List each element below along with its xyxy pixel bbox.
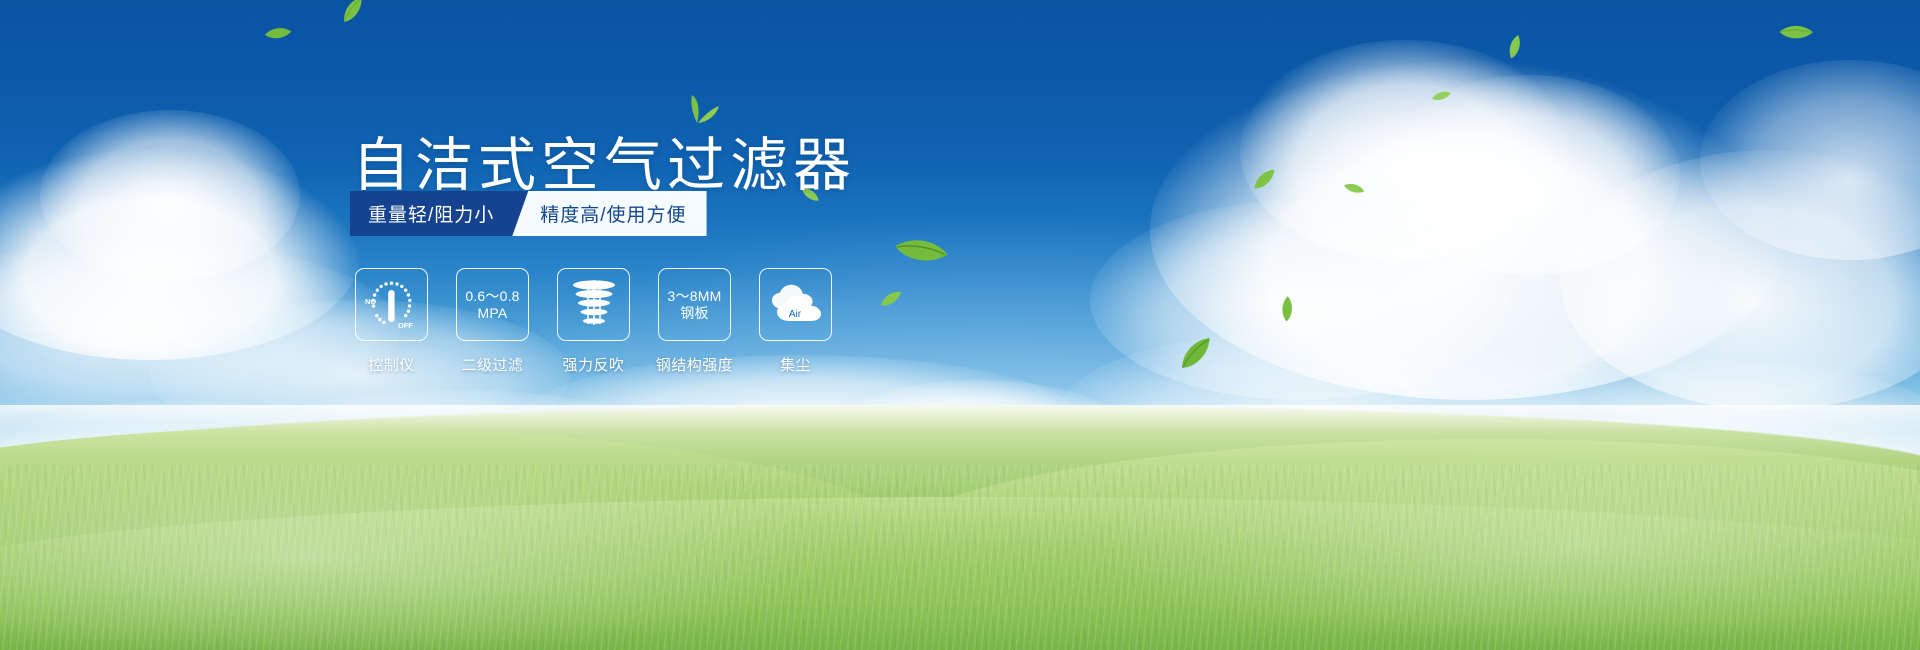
air-label: Air xyxy=(788,309,801,320)
feature-card: 0.6～0.8MPA xyxy=(456,268,529,341)
pressure-text-icon: 0.6～0.8MPA xyxy=(465,288,519,322)
tagline-badges: 重量轻/阻力小 精度高/使用方便 xyxy=(350,191,707,236)
control-dial-icon: NO OFF xyxy=(362,276,422,334)
feature-item-two-stage-filter[interactable]: 0.6～0.8MPA 二级过滤 xyxy=(456,268,529,375)
feature-label: 强力反吹 xyxy=(562,354,624,375)
feature-label: 集尘 xyxy=(780,354,811,375)
title-leaf-icon xyxy=(675,90,721,129)
feature-label: 控制仪 xyxy=(368,354,415,375)
air-cloud-icon: Air xyxy=(767,281,825,329)
steel-plate-text-icon: 3～8MM钢板 xyxy=(668,288,722,322)
hero-banner: 自洁式空气过滤器 重量轻/阻力小 精度高/使用方便 xyxy=(0,0,1920,650)
feature-label: 二级过滤 xyxy=(461,354,523,375)
feature-item-dust-collection[interactable]: Air 集尘 xyxy=(759,268,832,375)
feature-item-backblow[interactable]: 强力反吹 xyxy=(557,268,630,375)
feature-card xyxy=(557,268,630,341)
banner-content: 自洁式空气过滤器 重量轻/阻力小 精度高/使用方便 xyxy=(0,0,1920,650)
feature-item-control-unit[interactable]: NO OFF 控制仪 xyxy=(355,268,428,375)
feature-list: NO OFF 控制仪 0.6～0.8MPA 二级过滤 xyxy=(355,268,832,375)
badge-precision-ease[interactable]: 精度高/使用方便 xyxy=(512,191,706,236)
badge-weight-resistance[interactable]: 重量轻/阻力小 xyxy=(350,191,528,236)
dial-label-off: OFF xyxy=(398,321,413,330)
badge-label: 重量轻/阻力小 xyxy=(368,200,494,227)
feature-card: Air xyxy=(759,268,832,341)
feature-card: 3～8MM钢板 xyxy=(658,268,731,341)
feature-item-steel-strength[interactable]: 3～8MM钢板 钢结构强度 xyxy=(658,268,731,375)
feature-label: 钢结构强度 xyxy=(656,354,734,375)
badge-label: 精度高/使用方便 xyxy=(540,200,686,227)
filter-cartridge-icon xyxy=(567,276,621,334)
page-title: 自洁式空气过滤器 xyxy=(352,118,856,202)
dial-label-on: NO xyxy=(365,297,376,306)
feature-card: NO OFF xyxy=(355,268,428,341)
